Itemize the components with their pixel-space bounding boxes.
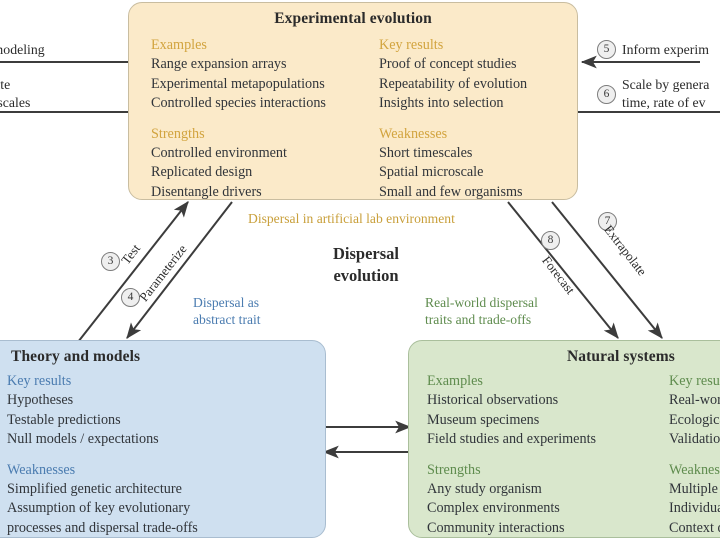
- list-item: [0, 430, 7, 450]
- list-item: poral scales: [0, 480, 7, 500]
- list-item: Context d: [669, 519, 720, 539]
- list-item: Ecological: [669, 411, 720, 431]
- section-head-weaknesses: Weaknesses: [379, 125, 527, 144]
- list-item: Testable predictions: [7, 411, 198, 431]
- box-experimental-evolution[interactable]: Experimental evolution Examples Range ex…: [128, 2, 578, 200]
- arrow-number-badge-4: 4: [121, 288, 140, 307]
- label-scale-by-generation: Scale by genera time, rate of ev: [622, 76, 709, 111]
- list-item: Repeatability of evolution: [379, 75, 527, 95]
- list-item: e history: [0, 519, 7, 539]
- experimental-left-column: Examples Range expansion arrays Experime…: [151, 36, 379, 202]
- center-title-line2: evolution: [316, 265, 416, 287]
- box-title-theory: Theory and models: [0, 348, 325, 366]
- arrow-number-badge-6: 6: [597, 85, 616, 104]
- label-artificial-lab-environment: Dispersal in artificial lab environment: [248, 210, 455, 227]
- spacer: [669, 450, 720, 461]
- section-head-key-results: Key results: [669, 372, 720, 391]
- spacer: [427, 450, 669, 461]
- box-title-natural: Natural systems: [409, 348, 720, 366]
- list-item: Small and few organisms: [379, 183, 527, 203]
- label-scale-line1: Scale by genera: [622, 76, 709, 94]
- spacer: [379, 114, 527, 125]
- label-extrapolate-line2: larger scales: [0, 94, 30, 112]
- list-item: els: [0, 411, 7, 431]
- list-item: Community interactions: [427, 519, 669, 539]
- section-head-examples: Examples: [427, 372, 669, 391]
- label-dispersal-abstract-trait: Dispersal as abstract trait: [193, 294, 261, 328]
- natural-right-column: Key results Real-world Ecological Valida…: [669, 372, 720, 538]
- list-item: Historical observations: [427, 391, 669, 411]
- label-realworld-dispersal-traits: Real-world dispersal traits and trade-of…: [425, 294, 538, 328]
- list-item: Null models / expectations: [7, 430, 198, 450]
- diagram-canvas: Experimental evolution Examples Range ex…: [0, 0, 720, 540]
- list-item: Controlled species interactions: [151, 94, 379, 114]
- label-abstract-line2: abstract trait: [193, 311, 261, 328]
- label-extrapolate-larger-scales: trapolate larger scales: [0, 76, 30, 111]
- list-item: Complex environments: [427, 499, 669, 519]
- theory-right-column: Key results Hypotheses Testable predicti…: [7, 372, 198, 538]
- section-head-examples: Examples: [151, 36, 379, 55]
- section-head-examples: [0, 372, 7, 391]
- list-item: processes and dispersal trade-offs: [7, 519, 198, 539]
- list-item: Field studies and experiments: [427, 430, 669, 450]
- experimental-right-column: Key results Proof of concept studies Rep…: [379, 36, 527, 202]
- list-item: Simplified genetic architecture: [7, 480, 198, 500]
- center-title: Dispersal evolution: [316, 243, 416, 287]
- label-realworld-line2: traits and trade-offs: [425, 311, 538, 328]
- list-item: Real-world: [669, 391, 720, 411]
- section-head-strengths: Strengths: [151, 125, 379, 144]
- list-item: Replicated design: [151, 163, 379, 183]
- list-item: Range expansion arrays: [151, 55, 379, 75]
- label-scale-line2: time, rate of ev: [622, 94, 709, 112]
- list-item: Controlled environment: [151, 144, 379, 164]
- spacer: [0, 450, 7, 461]
- label-inverse-modeling: verse modeling: [0, 41, 45, 59]
- list-item: Short timescales: [379, 144, 527, 164]
- section-head-strengths: Strengths: [427, 461, 669, 480]
- label-extrapolate-line1: trapolate: [0, 76, 30, 94]
- label-realworld-line1: Real-world dispersal: [425, 294, 538, 311]
- center-title-line1: Dispersal: [316, 243, 416, 265]
- list-item: Disentangle drivers: [151, 183, 379, 203]
- arrow-number-badge-8: 8: [541, 231, 560, 250]
- list-item: Assumption of key evolutionary: [7, 499, 198, 519]
- list-item: hanisms: [0, 499, 7, 519]
- list-item: Individual: [669, 499, 720, 519]
- list-item: Validation: [669, 430, 720, 450]
- section-head-key-results: Key results: [379, 36, 527, 55]
- list-item: Hypotheses: [7, 391, 198, 411]
- spacer: [7, 450, 198, 461]
- box-theory-and-models[interactable]: Theory and models models els poral scale…: [0, 340, 326, 538]
- arrow-number-badge-5: 5: [597, 40, 616, 59]
- natural-left-column: Examples Historical observations Museum …: [427, 372, 669, 538]
- section-head-weaknesses: Weaknesse: [669, 461, 720, 480]
- label-abstract-line1: Dispersal as: [193, 294, 261, 311]
- list-item: Experimental metapopulations: [151, 75, 379, 95]
- list-item: Museum specimens: [427, 411, 669, 431]
- spacer: [151, 114, 379, 125]
- list-item: Multiple s: [669, 480, 720, 500]
- section-head-strengths: [0, 461, 7, 480]
- box-title-experimental: Experimental evolution: [129, 10, 577, 28]
- list-item: Spatial microscale: [379, 163, 527, 183]
- list-item: models: [0, 391, 7, 411]
- theory-left-column: models els poral scales hanisms e histor…: [0, 372, 7, 538]
- list-item: Insights into selection: [379, 94, 527, 114]
- list-item: Any study organism: [427, 480, 669, 500]
- section-head-key-results: Key results: [7, 372, 198, 391]
- list-item: Proof of concept studies: [379, 55, 527, 75]
- section-head-weaknesses: Weaknesses: [7, 461, 198, 480]
- label-inform-experiments: Inform experim: [622, 41, 709, 59]
- arrow-number-badge-3: 3: [101, 252, 120, 271]
- box-natural-systems[interactable]: Natural systems Examples Historical obse…: [408, 340, 720, 538]
